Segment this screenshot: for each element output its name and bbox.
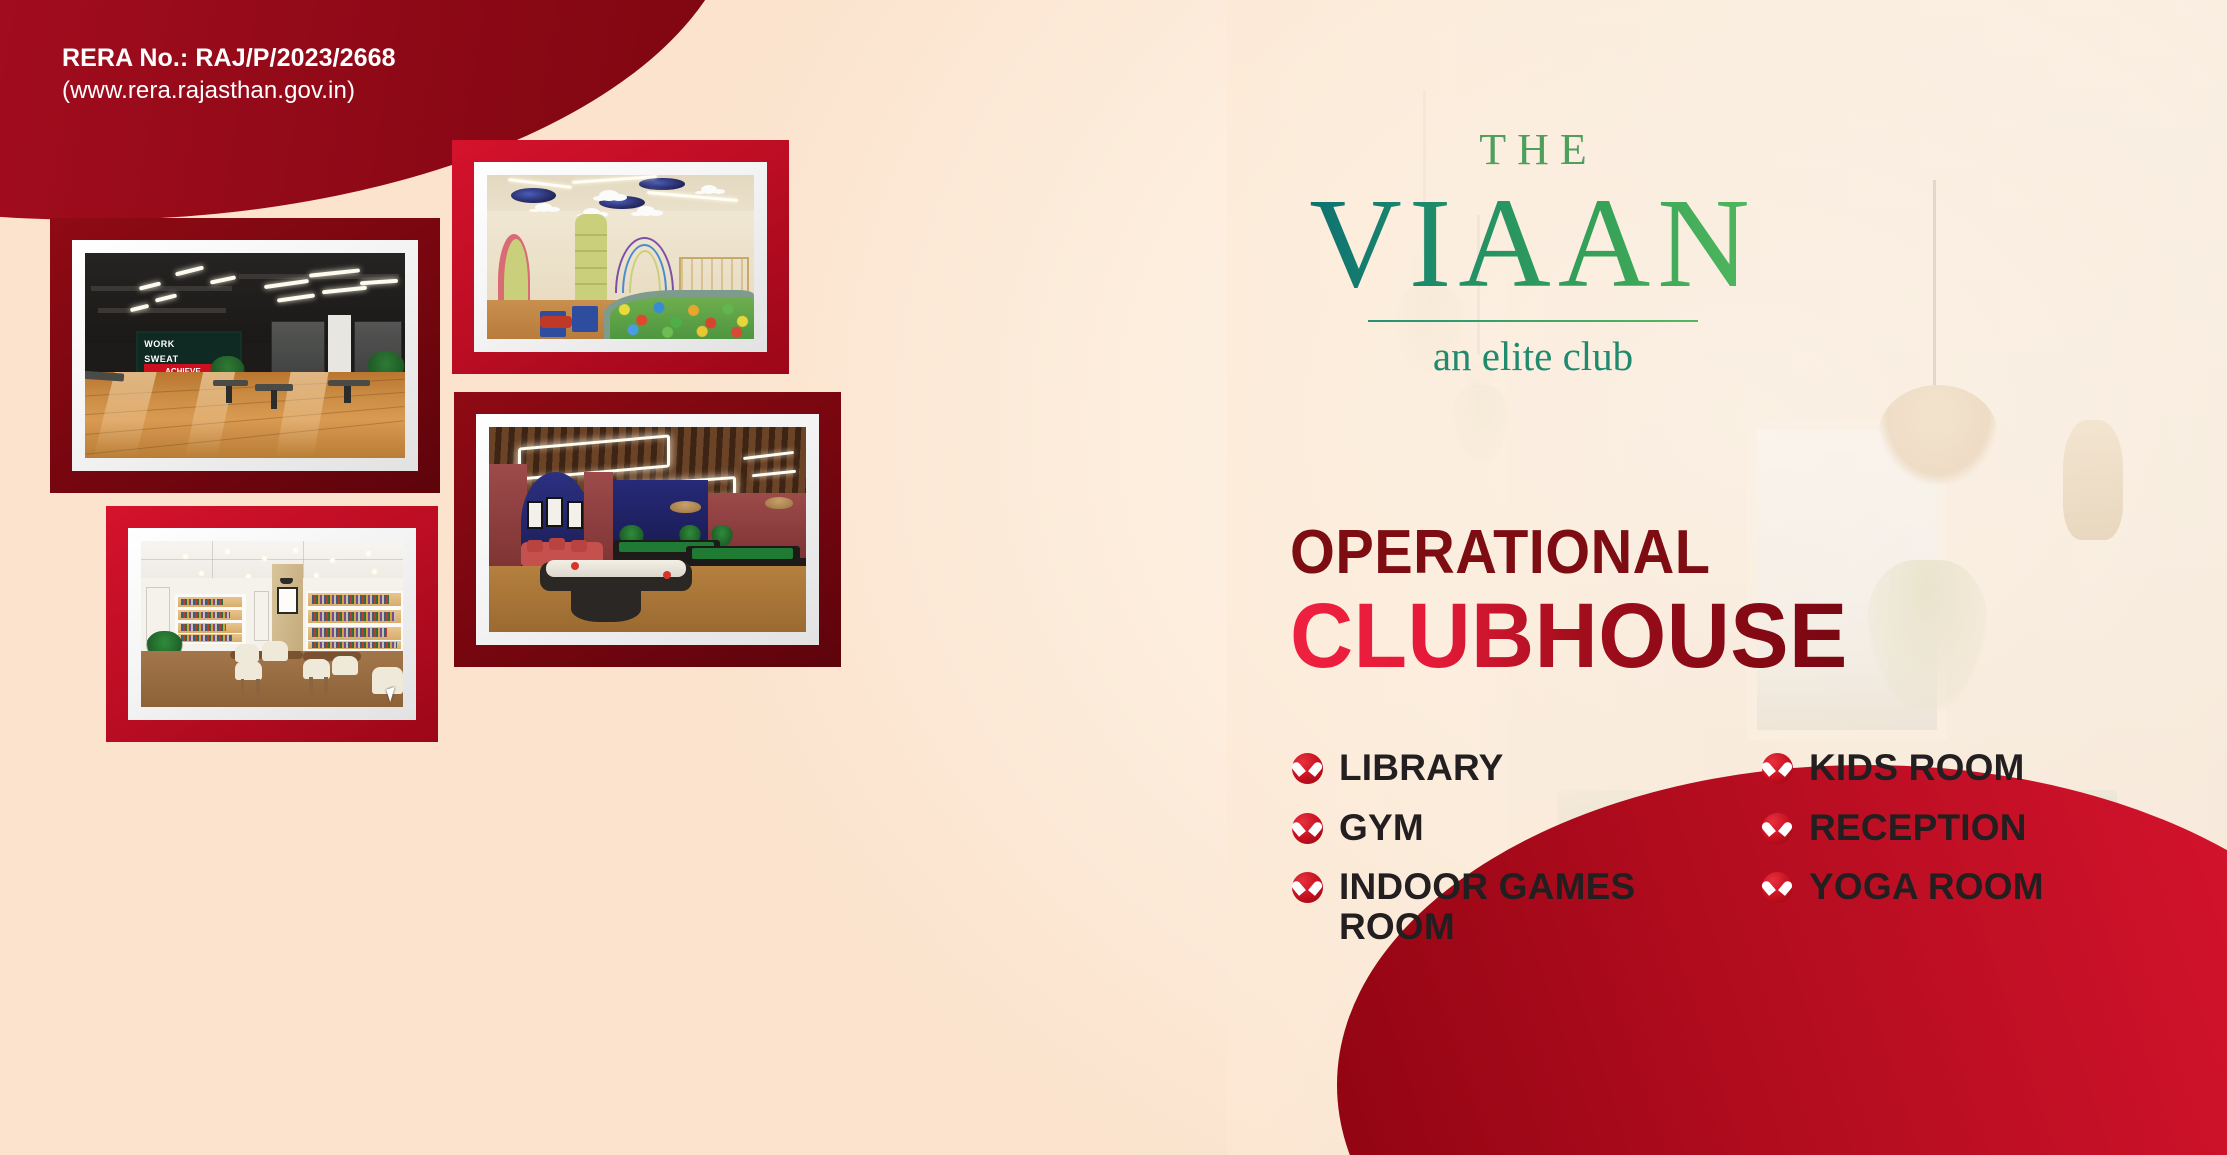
- amenity-label: RECEPTION: [1809, 808, 2027, 848]
- photo-frame-library[interactable]: [106, 506, 438, 742]
- amenity-item[interactable]: YOGA ROOM: [1762, 867, 2044, 907]
- amenity-item[interactable]: GYM: [1292, 808, 1762, 848]
- amenity-label: LIBRARY: [1339, 748, 1503, 788]
- amenity-label: KIDS ROOM: [1809, 748, 2025, 788]
- bookshelf-right: [306, 591, 403, 651]
- amenities-column-right: KIDS ROOM RECEPTION YOGA ROOM: [1762, 748, 2044, 946]
- amenity-label: INDOOR GAMES ROOM: [1339, 867, 1639, 946]
- brand-logo: THE VIAAN an elite club: [1283, 128, 1783, 377]
- brand-tagline: an elite club: [1283, 336, 1783, 377]
- amenity-item[interactable]: RECEPTION: [1762, 808, 2044, 848]
- frame-mat: WORK SWEAT ACHIEVE: [72, 240, 418, 471]
- banner-canvas: RERA No.: RAJ/P/2023/2668 (www.rera.raja…: [0, 0, 2227, 1155]
- amenity-label: YOGA ROOM: [1809, 867, 2044, 907]
- heart-icon: [1292, 872, 1323, 903]
- gym-wall-text-1: WORK: [144, 340, 175, 349]
- heart-icon: [1762, 753, 1793, 784]
- headline-line-2: CLUBHOUSE: [1290, 590, 1848, 684]
- rera-disclosure: RERA No.: RAJ/P/2023/2668 (www.rera.raja…: [62, 42, 396, 107]
- heart-icon: [1292, 813, 1323, 844]
- headline: OPERATIONAL CLUBHOUSE: [1290, 522, 1877, 684]
- photo-frame-kids-room[interactable]: [452, 140, 789, 374]
- library-photo: [141, 541, 403, 707]
- frame-mat: [476, 414, 819, 645]
- amenity-item[interactable]: KIDS ROOM: [1762, 748, 2044, 788]
- frame-mat: [474, 162, 767, 352]
- kids-room-photo: [487, 175, 754, 339]
- amenity-item[interactable]: INDOOR GAMES ROOM: [1292, 867, 1762, 946]
- brand-name: VIAAN: [1283, 176, 1783, 310]
- heart-icon: [1762, 872, 1793, 903]
- rera-website: (www.rera.rajasthan.gov.in): [62, 75, 396, 107]
- bookshelf-left: [175, 594, 246, 644]
- gym-photo: WORK SWEAT ACHIEVE: [85, 253, 405, 458]
- amenities-list: LIBRARY GYM INDOOR GAMES ROOM KIDS ROOM …: [1292, 748, 2044, 946]
- photo-frame-gym[interactable]: WORK SWEAT ACHIEVE: [50, 218, 440, 493]
- gym-wall-text-2: SWEAT: [144, 355, 178, 364]
- headline-line-1: OPERATIONAL: [1290, 522, 1836, 584]
- amenity-label: GYM: [1339, 808, 1424, 848]
- rera-number: RERA No.: RAJ/P/2023/2668: [62, 42, 396, 75]
- heart-icon: [1762, 813, 1793, 844]
- wall-lamp: [280, 578, 293, 585]
- framed-art: [277, 587, 298, 614]
- amenities-column-left: LIBRARY GYM INDOOR GAMES ROOM: [1292, 748, 1762, 946]
- frame-mat: [128, 528, 416, 720]
- photo-frame-indoor-games-room[interactable]: [454, 392, 841, 667]
- amenity-item[interactable]: LIBRARY: [1292, 748, 1762, 788]
- brand-prefix: THE: [1283, 128, 1783, 172]
- indoor-games-room-photo: [489, 427, 806, 632]
- heart-icon: [1292, 753, 1323, 784]
- kids-ball-pit: [604, 290, 754, 339]
- brand-divider: [1368, 320, 1698, 322]
